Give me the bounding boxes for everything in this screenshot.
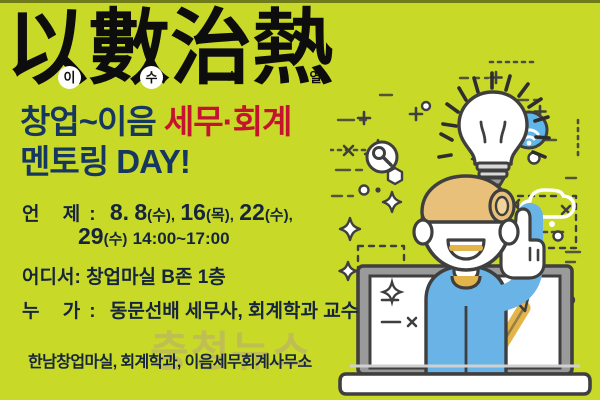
subtitle-tax-accounting: 세무·회계 [164, 103, 291, 140]
info-when-day4-weekday: (수) [104, 231, 128, 248]
info-when-month: 8. [110, 199, 129, 225]
subtitle-line-2: 멘토링 DAY! [20, 143, 190, 181]
info-who-value: 동문선배 세무사, 회계학과 교수 [110, 301, 358, 322]
info-when-time: 14:00~17:00 [133, 229, 230, 248]
info-when-day2: 16 [180, 199, 206, 225]
info-when-day1: 8 [134, 199, 147, 225]
ruby-reading-2: 수 [140, 66, 163, 89]
info-where-label: 어디서: [22, 267, 81, 288]
info-when-day1-weekday: (수), [147, 207, 175, 224]
info-when-day4: 29 [78, 223, 104, 249]
organizer-footer: 한남창업마실, 회계학과, 이음세무회계사무소 [28, 348, 312, 372]
info-where-value: 창업마실 B존 1층 [86, 267, 226, 288]
subtitle-line-1: 창업~이음 세무·회계 [20, 103, 291, 141]
info-when-day3-weekday: (수), [265, 207, 293, 224]
info-when-day2-weekday: (목), [206, 207, 234, 224]
text-column: 以 數 治 熱 이 수 치 열 창업~이음 세무·회계 멘토링 DAY! 언 제… [0, 0, 360, 400]
ruby-reading-1: 이 [58, 66, 81, 89]
illustration-area [330, 0, 600, 400]
subtitle-startup-link: 창업~이음 [20, 103, 156, 140]
info-who-label: 누 가: [22, 301, 105, 322]
ruby-reading-4: 열 [304, 66, 327, 89]
poster-canvas: 以 數 治 熱 이 수 치 열 창업~이음 세무·회계 멘토링 DAY! 언 제… [0, 0, 600, 400]
info-when-day3: 22 [239, 199, 265, 225]
ruby-reading-3: 치 [222, 66, 245, 89]
info-when-line-2: 29(수) 14:00~17:00 [78, 224, 230, 252]
info-who-line: 누 가: 동문선배 세무사, 회계학과 교수 [22, 300, 358, 324]
info-when-label: 언 제: [22, 204, 105, 225]
main-title: 以 數 治 熱 이 수 치 열 [6, 4, 336, 96]
info-where-line: 어디서: 창업마실 B존 1층 [22, 266, 226, 290]
